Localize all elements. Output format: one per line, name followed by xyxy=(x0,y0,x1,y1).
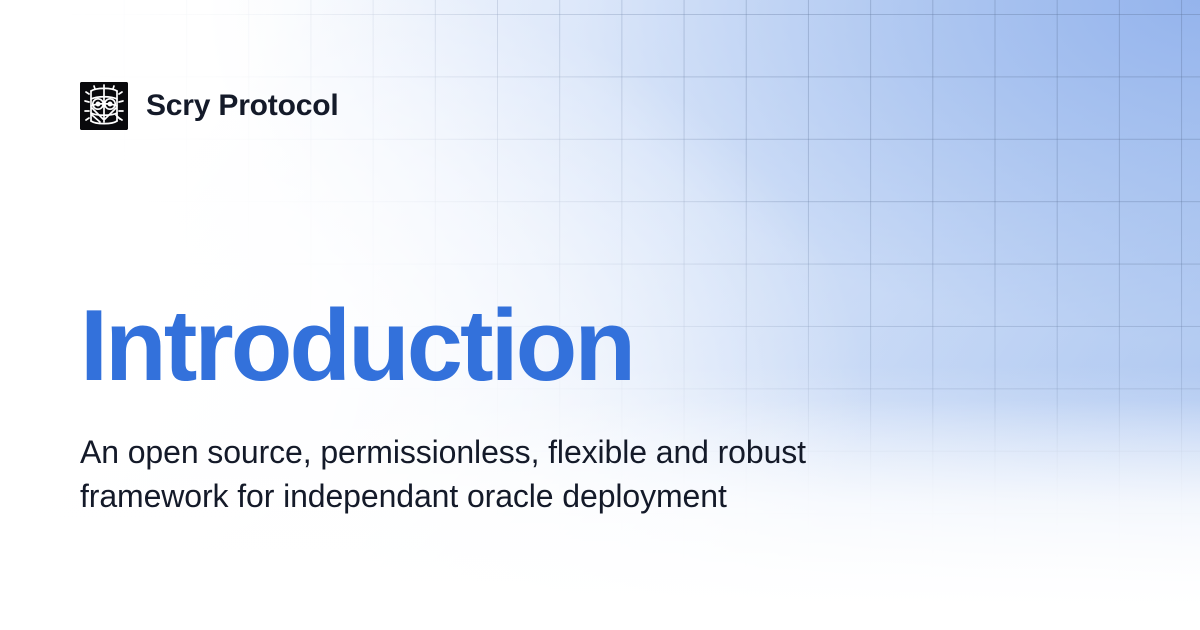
card-content: Scry Protocol Introduction An open sourc… xyxy=(0,0,1200,630)
og-preview-card: Scry Protocol Introduction An open sourc… xyxy=(0,0,1200,630)
scry-network-glyph-icon xyxy=(80,82,128,130)
brand-lockup: Scry Protocol xyxy=(80,82,338,130)
page-subtitle: An open source, permissionless, flexible… xyxy=(80,430,870,518)
page-title: Introduction xyxy=(80,296,633,397)
brand-name-label: Scry Protocol xyxy=(146,91,338,121)
